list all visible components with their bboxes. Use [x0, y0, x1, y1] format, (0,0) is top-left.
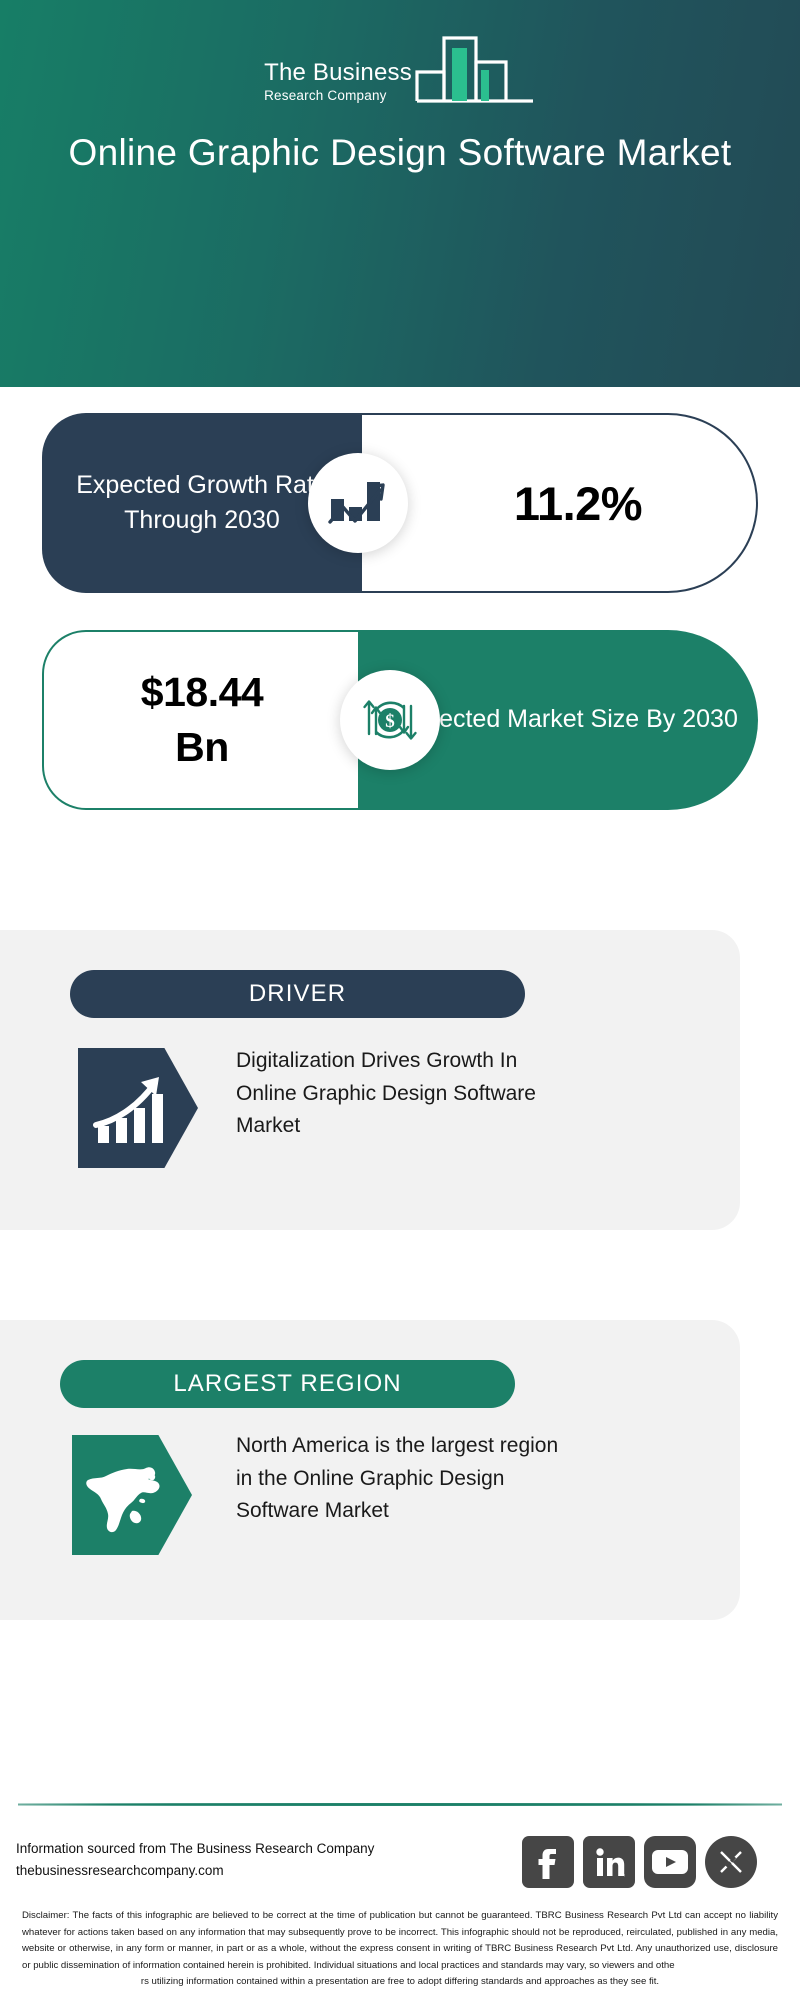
social-links: ™: [522, 1836, 772, 1888]
market-size-value-line-2: Bn: [175, 720, 229, 775]
logo-line-1: The Business: [264, 61, 412, 85]
bar-chart-logo-mark: [414, 26, 536, 109]
logo-line-2: Research Company: [264, 89, 387, 103]
source-website-link[interactable]: thebusinessresearchcompany.com: [16, 1860, 516, 1882]
youtube-icon[interactable]: [644, 1836, 696, 1888]
growth-rate-value: 11.2%: [398, 413, 758, 593]
rising-bar-chart-arrow-icon: [78, 1048, 198, 1168]
market-size-value: $18.44 Bn: [42, 630, 362, 810]
svg-text:™: ™: [623, 1874, 625, 1879]
page-title: Online Graphic Design Software Market: [0, 128, 800, 178]
disclaimer-last-line: rs utilizing information contained withi…: [22, 1974, 778, 1991]
largest-region-text: North America is the largest region in t…: [236, 1430, 566, 1528]
facebook-icon[interactable]: [522, 1836, 574, 1888]
linkedin-icon[interactable]: ™: [583, 1836, 635, 1888]
stat-card-growth-rate: Expected Growth Rate Through 2030 11.2%: [42, 413, 758, 593]
stat-card-market-size: Expected Market Size By 2030 $18.44 Bn $: [42, 630, 758, 810]
disclaimer-text: Disclaimer: The facts of this infographi…: [22, 1908, 778, 1991]
x-twitter-icon[interactable]: [705, 1836, 757, 1888]
company-logo: The Business Research Company: [0, 26, 800, 111]
footer-divider: [18, 1803, 782, 1806]
driver-text: Digitalization Drives Growth In Online G…: [236, 1045, 576, 1143]
largest-region-badge: LARGEST REGION: [60, 1360, 515, 1408]
dollar-circular-arrows-icon: $: [340, 670, 440, 770]
north-america-map-icon: [72, 1435, 192, 1555]
driver-panel: DRIVER Digitalization Drives Growth In O…: [0, 930, 740, 1230]
header-banner: The Business Research Company Online Gra…: [0, 0, 800, 387]
disclaimer-main: Disclaimer: The facts of this infographi…: [22, 1910, 778, 1971]
source-line-1: Information sourced from The Business Re…: [16, 1838, 516, 1860]
bar-chart-growth-arrow-icon: [308, 453, 408, 553]
svg-text:$: $: [385, 711, 395, 732]
largest-region-panel: LARGEST REGION North America is the larg…: [0, 1320, 740, 1620]
source-attribution: Information sourced from The Business Re…: [16, 1838, 516, 1882]
logo-wordmark: The Business Research Company: [264, 61, 412, 112]
driver-badge: DRIVER: [70, 970, 525, 1018]
market-size-value-line-1: $18.44: [141, 665, 263, 720]
